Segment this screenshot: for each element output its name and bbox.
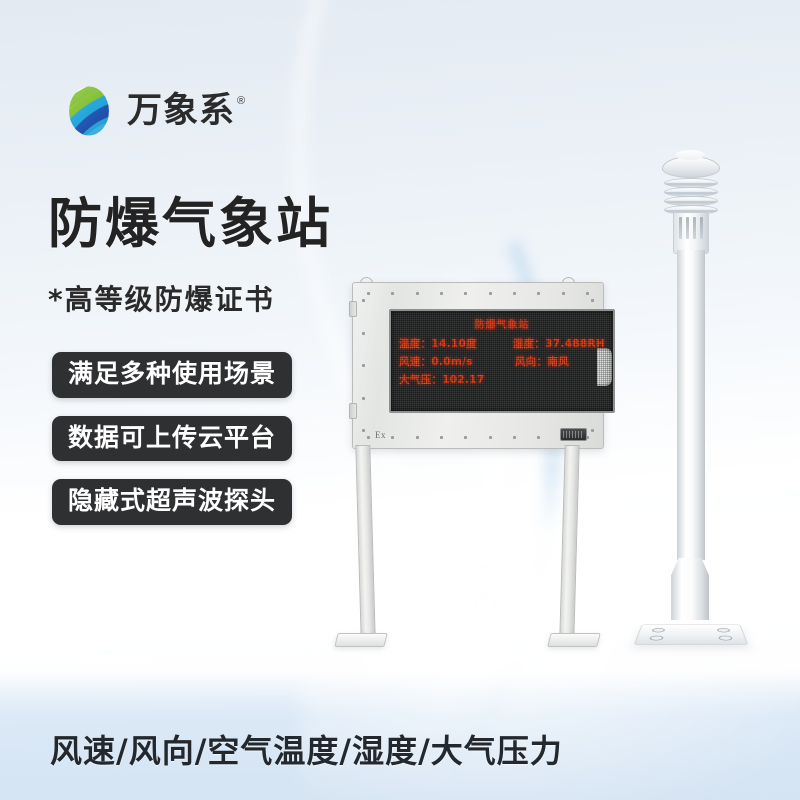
sensor-dome-top-icon: [675, 150, 705, 160]
cabinet-enclosure: 防爆气象站 温度：14.10度 湿度：37.488RH 风速：0.0m/s 风向…: [352, 282, 604, 449]
led-row: 风速：0.0m/s 风向：南风: [399, 354, 605, 369]
sensor-slot-icon: [693, 217, 696, 239]
mounting-pole-icon: [677, 250, 705, 560]
stand-foot-plate: [334, 633, 387, 647]
product-banner: 万象系 ® 防爆气象站 *高等级防爆证书 满足多种使用场景 数据可上传云平台 隐…: [0, 0, 800, 800]
bolt-icon: [591, 429, 594, 432]
pole-flare-icon: [671, 558, 709, 620]
bolt-icon: [362, 397, 365, 400]
bolt-icon: [362, 299, 365, 302]
stand-foot-plate: [547, 633, 600, 647]
registered-mark: ®: [237, 95, 245, 107]
bolt-icon: [391, 436, 394, 439]
bolt-icon: [362, 429, 365, 432]
globe-swirl-logo-icon: [60, 82, 118, 140]
sensor-slot-icon: [686, 217, 689, 239]
bolt-row-top: [367, 292, 589, 295]
ex-certification-label: Ex: [375, 430, 386, 440]
bolt-icon: [537, 292, 540, 295]
led-readout-rows: 温度：14.10度 湿度：37.488RH 风速：0.0m/s 风向：南风 大气…: [399, 336, 605, 387]
led-wind-speed: 风速：0.0m/s: [399, 354, 515, 369]
bolt-icon: [489, 436, 492, 439]
bolt-icon: [513, 292, 516, 295]
bolt-icon: [367, 436, 370, 439]
bolt-icon: [367, 292, 370, 295]
ultrasonic-sensor-body-icon: [673, 212, 709, 254]
sensor-slot-icon: [700, 217, 703, 239]
explosion-proof-display-cabinet: 防爆气象站 温度：14.10度 湿度：37.488RH 风速：0.0m/s 风向…: [330, 282, 605, 672]
brand-name: 万象系: [127, 94, 235, 129]
sensor-slot-icon: [679, 217, 682, 239]
bolt-icon: [537, 436, 540, 439]
hinge-icon: [349, 301, 357, 317]
led-temperature: 温度：14.10度: [399, 336, 513, 351]
bolt-icon: [586, 292, 589, 295]
bolt-hole-icon: [717, 628, 731, 632]
nameplate-label-icon: [560, 428, 587, 441]
bolt-icon: [362, 364, 365, 367]
feature-pill-list: 满足多种使用场景 数据可上传云平台 隐藏式超声波探头: [52, 352, 292, 525]
bolt-row-left: [362, 299, 365, 432]
bolt-icon: [513, 436, 516, 439]
bolt-hole-icon: [649, 636, 664, 641]
led-row: 大气压：102.17: [399, 372, 605, 387]
led-air-pressure: 大气压：102.17: [399, 372, 515, 387]
led-title: 防爆气象站: [399, 316, 605, 331]
stand-leg: [355, 445, 375, 639]
led-humidity: 湿度：37.488RH: [513, 336, 605, 351]
bolt-icon: [562, 292, 565, 295]
bolt-icon: [440, 436, 443, 439]
led-display-screen: 防爆气象站 温度：14.10度 湿度：37.488RH 风速：0.0m/s 风向…: [389, 309, 615, 413]
brand-name-wrap: 万象系 ®: [127, 94, 245, 129]
page-subtitle: *高等级防爆证书: [48, 278, 275, 318]
base-flange-plate-icon: [634, 625, 749, 645]
brand-logo: 万象系 ®: [60, 82, 245, 140]
bolt-icon: [416, 292, 419, 295]
bolt-icon: [591, 299, 594, 302]
led-content: 防爆气象站 温度：14.10度 湿度：37.488RH 风速：0.0m/s 风向…: [391, 311, 613, 387]
feature-pill: 数据可上传云平台: [52, 416, 292, 462]
bolt-icon: [489, 292, 492, 295]
bolt-icon: [440, 292, 443, 295]
page-title: 防爆气象站: [48, 196, 333, 253]
hinge-icon: [349, 403, 357, 419]
weather-sensor-pole-assembly: [640, 150, 760, 670]
led-wind-direction: 风向：南风: [515, 354, 569, 369]
footer-spec-text: 风速/风向/空气温度/湿度/大气压力: [50, 726, 563, 772]
bolt-row-bottom: [367, 436, 589, 439]
stand-leg: [559, 445, 579, 639]
bolt-icon: [391, 292, 394, 295]
bolt-icon: [362, 332, 365, 335]
bolt-icon: [464, 436, 467, 439]
led-row: 温度：14.10度 湿度：37.488RH: [399, 336, 605, 351]
bolt-hole-icon: [651, 628, 665, 632]
feature-pill: 满足多种使用场景: [52, 352, 292, 398]
bolt-icon: [416, 436, 419, 439]
bolt-hole-icon: [718, 636, 733, 641]
feature-pill: 隐藏式超声波探头: [52, 479, 292, 525]
bolt-icon: [464, 292, 467, 295]
